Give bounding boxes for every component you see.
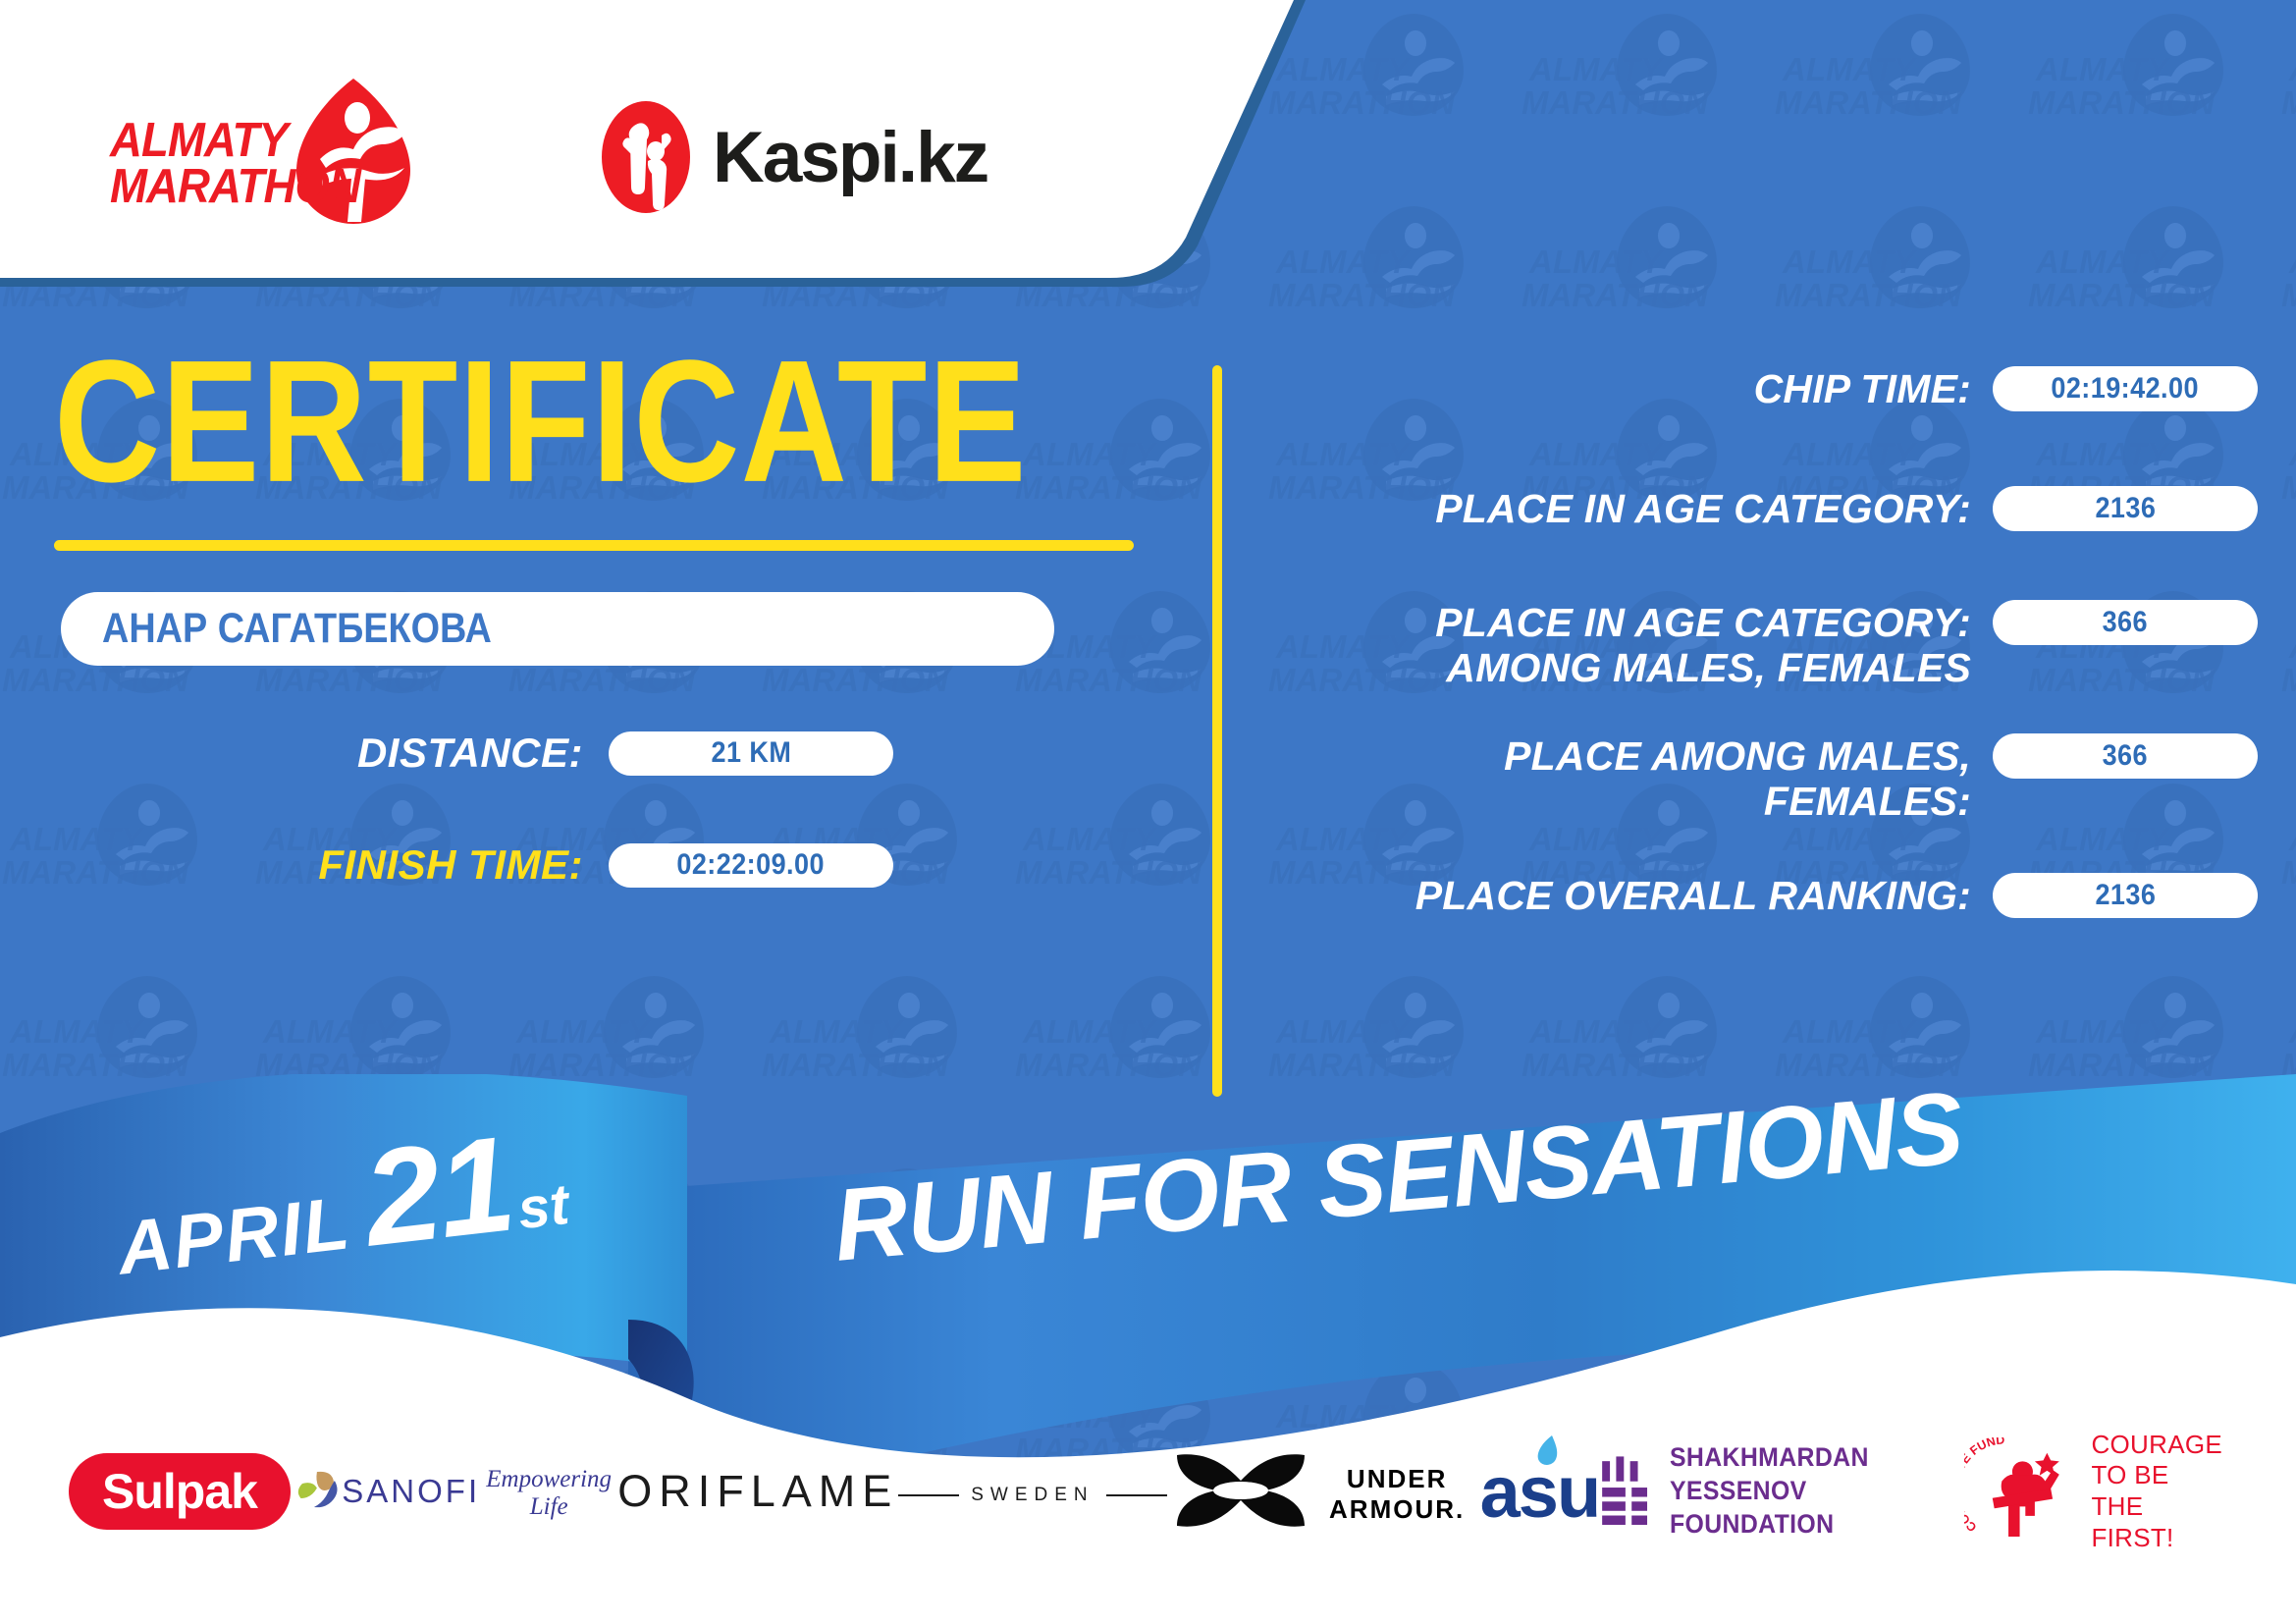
- distance-value-pill: 21 KM: [609, 731, 893, 776]
- place-among-gender-label: PLACE AMONG MALES, FEMALES:: [1266, 732, 1993, 825]
- place-among-gender-label-line1: PLACE AMONG MALES,: [1504, 733, 1971, 779]
- oriflame-rule-right: [1106, 1494, 1167, 1496]
- place-among-gender-label-line2: FEMALES:: [1266, 780, 1971, 825]
- svg-text:CORPORATE FUND: CORPORATE FUND: [1964, 1437, 2005, 1535]
- place-age-category-gender-label: PLACE IN AGE CATEGORY: AMONG MALES, FEMA…: [1266, 599, 1993, 691]
- kaspi-logo: Kaspi.kz: [601, 100, 988, 214]
- place-overall-ranking-value: 2136: [2095, 879, 2156, 912]
- oriflame-rule-left: [898, 1494, 959, 1496]
- place-age-category-label-line1: PLACE IN AGE CATEGORY:: [1435, 486, 1971, 531]
- place-among-gender-value: 366: [2103, 739, 2148, 773]
- chip-time-label-line1: CHIP TIME:: [1754, 366, 1971, 411]
- place-age-category-gender-value: 366: [2103, 606, 2148, 639]
- oriflame-tagline: SWEDEN: [971, 1485, 1094, 1506]
- event-day-ordinal: st: [514, 1171, 572, 1242]
- corporate-fund-arc-text: CORPORATE FUND: [1964, 1437, 2005, 1535]
- header-bar: ALMATY MARATHON Kaspi.kz: [0, 0, 1394, 314]
- finish-time-row: FINISH TIME: 02:22:09.00: [0, 835, 1178, 895]
- participant-name: АНАР САГАТБЕКОВА: [102, 605, 492, 653]
- place-overall-ranking-row: PLACE OVERALL RANKING: 2136: [1266, 872, 2258, 931]
- sponsor-logos-strip: Sulpak SANOFI Empowering Life ORIFLAME S…: [0, 1388, 2296, 1624]
- chip-time-value-pill: 02:19:42.00: [1993, 366, 2258, 411]
- distance-label: DISTANCE:: [0, 730, 609, 777]
- place-age-category-gender-row: PLACE IN AGE CATEGORY: AMONG MALES, FEMA…: [1266, 599, 2258, 691]
- sponsor-oriflame: ORIFLAME SWEDEN: [617, 1466, 1166, 1517]
- courage-line-1: COURAGE: [2091, 1430, 2227, 1461]
- finish-time-label: FINISH TIME:: [0, 841, 609, 889]
- asu-droplet-icon: [1534, 1435, 1560, 1468]
- event-day: 21: [356, 1107, 520, 1278]
- event-month: APRIL: [113, 1180, 354, 1291]
- chip-time-label: CHIP TIME:: [1266, 365, 1993, 412]
- sponsor-courage-to-be-the-first: CORPORATE FUND COURAGE TO BE THE FIRST!: [1964, 1430, 2227, 1554]
- kaspi-person-icon: [601, 100, 691, 214]
- place-age-category-row: PLACE IN AGE CATEGORY: 2136: [1266, 485, 2258, 544]
- sponsor-asu: asu: [1480, 1450, 1600, 1534]
- courage-runner-icon: CORPORATE FUND: [1964, 1437, 2077, 1545]
- distance-row: DISTANCE: 21 KM: [0, 723, 1178, 784]
- event-slogan: RUN FOR SENSATIONS: [829, 1070, 1967, 1285]
- title-underline: [54, 540, 1134, 551]
- kaspi-wordmark: Kaspi.kz: [713, 117, 988, 198]
- yessenov-line-1: SHAKHMARDAN YESSENOV: [1670, 1441, 1941, 1508]
- almaty-marathon-wordmark: ALMATY MARATHON: [110, 118, 360, 210]
- place-age-category-gender-label-line1: PLACE IN AGE CATEGORY:: [1435, 600, 1971, 645]
- place-among-gender-row: PLACE AMONG MALES, FEMALES: 366: [1266, 732, 2258, 825]
- right-stats-panel: CHIP TIME: 02:19:42.00 PLACE IN AGE CATE…: [1266, 365, 2258, 966]
- page-title: CERTIFICATE: [54, 334, 1178, 508]
- oriflame-wordmark: ORIFLAME: [617, 1466, 898, 1517]
- place-age-category-value-pill: 2136: [1993, 486, 2258, 531]
- courage-wordmark: COURAGE TO BE THE FIRST!: [2091, 1430, 2227, 1554]
- sanofi-wordmark: SANOFI: [342, 1473, 480, 1510]
- vertical-divider: [1212, 365, 1222, 1097]
- yessenov-wordmark: SHAKHMARDAN YESSENOV FOUNDATION: [1670, 1441, 1941, 1541]
- logo-line-1: ALMATY: [110, 118, 360, 164]
- participant-name-field: АНАР САГАТБЕКОВА: [61, 592, 1054, 666]
- yessenov-bars-icon: [1599, 1447, 1650, 1536]
- place-overall-ranking-label-line1: PLACE OVERALL RANKING:: [1415, 873, 1971, 918]
- sanofi-mark-icon: [291, 1466, 342, 1513]
- under-armour-wordmark: UNDER ARMOUR.: [1314, 1464, 1480, 1525]
- courage-line-2: TO BE: [2091, 1460, 2227, 1491]
- logo-line-2: MARATHON: [110, 164, 360, 210]
- place-age-category-label: PLACE IN AGE CATEGORY:: [1266, 485, 1993, 532]
- left-panel: CERTIFICATE АНАР САГАТБЕКОВА DISTANCE: 2…: [0, 334, 1178, 947]
- almaty-marathon-logo: ALMATY MARATHON: [110, 69, 424, 245]
- finish-time-value-pill: 02:22:09.00: [609, 843, 893, 888]
- finish-time-value: 02:22:09.00: [677, 848, 826, 882]
- chip-time-row: CHIP TIME: 02:19:42.00: [1266, 365, 2258, 424]
- sponsor-sanofi: SANOFI Empowering Life: [291, 1463, 617, 1521]
- place-age-category-gender-value-pill: 366: [1993, 600, 2258, 645]
- place-age-category-value: 2136: [2095, 492, 2156, 525]
- place-overall-ranking-label: PLACE OVERALL RANKING:: [1266, 872, 1993, 919]
- sponsor-under-armour: UNDER ARMOUR.: [1167, 1449, 1480, 1535]
- place-age-category-gender-label-line2: AMONG MALES, FEMALES: [1266, 646, 1971, 691]
- courage-line-3: THE FIRST!: [2091, 1491, 2227, 1553]
- oriflame-subline: SWEDEN: [898, 1485, 1166, 1506]
- event-date: APRIL 21 st: [107, 1100, 574, 1306]
- left-stat-rows: DISTANCE: 21 KM FINISH TIME: 02:22:09.00: [0, 723, 1178, 895]
- place-overall-ranking-value-pill: 2136: [1993, 873, 2258, 918]
- sulpak-wordmark: Sulpak: [102, 1463, 257, 1520]
- under-armour-icon: [1167, 1449, 1314, 1530]
- sponsor-sulpak: Sulpak: [69, 1453, 291, 1530]
- place-among-gender-value-pill: 366: [1993, 733, 2258, 779]
- yessenov-line-2: FOUNDATION: [1670, 1508, 1941, 1542]
- sponsor-yessenov-foundation: SHAKHMARDAN YESSENOV FOUNDATION: [1599, 1441, 1964, 1541]
- chip-time-value: 02:19:42.00: [2052, 372, 2200, 406]
- certificate-canvas: ALMATY MARATHON ALMATY: [0, 0, 2296, 1624]
- distance-value: 21 KM: [711, 736, 791, 770]
- sanofi-tagline: Empowering Life: [480, 1466, 617, 1521]
